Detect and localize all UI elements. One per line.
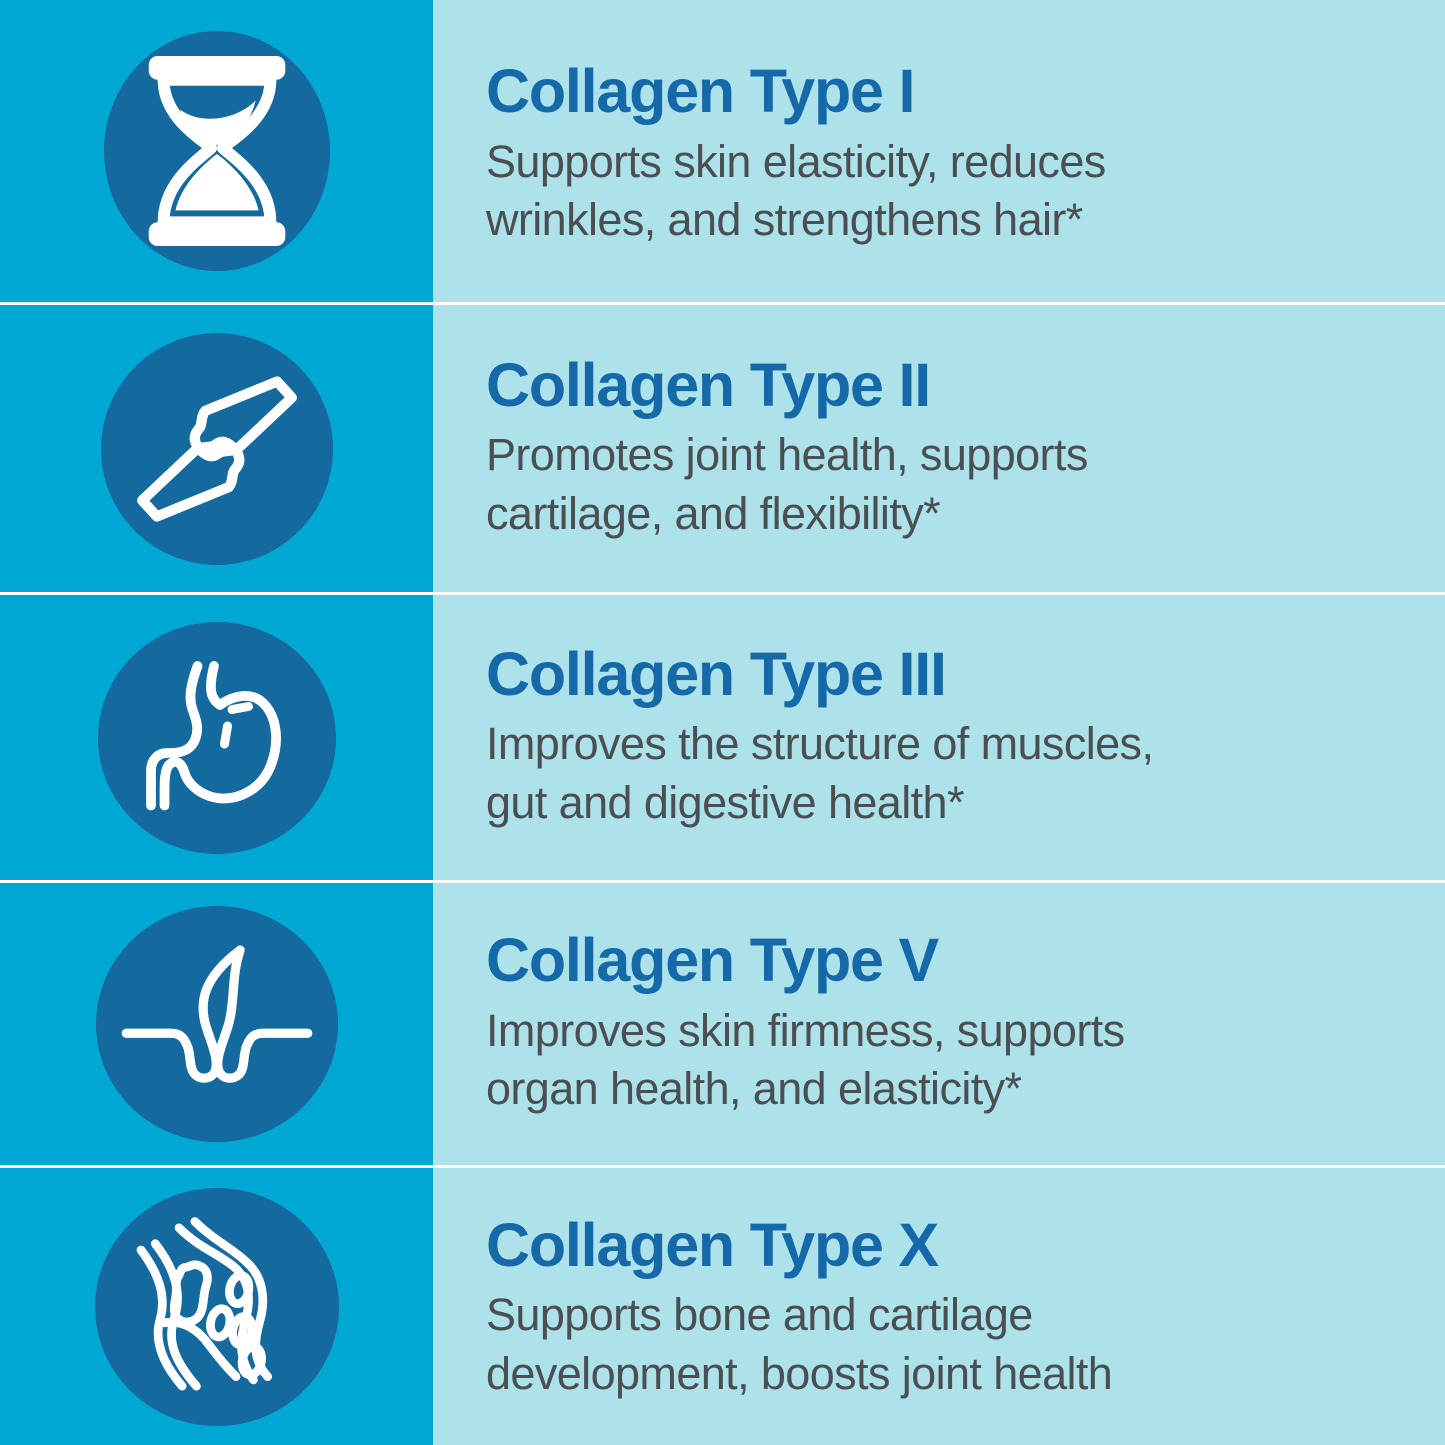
collagen-row: Collagen Type III Improves the structure…	[0, 595, 1445, 883]
text-cell: Collagen Type V Improves skin firmness, …	[433, 883, 1445, 1165]
row-description-line: development, boosts joint health	[486, 1345, 1415, 1404]
collagen-row: Collagen Type II Promotes joint health, …	[0, 305, 1445, 595]
stomach-icon	[127, 648, 307, 828]
icon-cell	[0, 595, 433, 880]
icon-disc	[98, 622, 336, 854]
collagen-types-infographic: Collagen Type I Supports skin elasticity…	[0, 0, 1445, 1445]
text-cell: Collagen Type II Promotes joint health, …	[433, 305, 1445, 592]
bone-joint-icon	[129, 361, 305, 537]
text-cell: Collagen Type III Improves the structure…	[433, 595, 1445, 880]
text-cell: Collagen Type I Supports skin elasticity…	[433, 0, 1445, 302]
cartilage-tissue-icon	[122, 1212, 312, 1402]
row-description-line: Improves skin firmness, supports	[486, 1002, 1415, 1061]
hair-follicle-icon	[117, 929, 317, 1119]
icon-cell	[0, 0, 433, 302]
icon-cell	[0, 305, 433, 592]
row-title: Collagen Type II	[486, 354, 1415, 416]
row-description: Supports bone and cartilage development,…	[486, 1286, 1415, 1403]
icon-disc	[104, 31, 330, 271]
row-description-line: Supports bone and cartilage	[486, 1286, 1415, 1345]
icon-disc	[96, 906, 338, 1142]
row-title: Collagen Type V	[486, 929, 1415, 991]
row-description-line: cartilage, and flexibility*	[486, 485, 1415, 544]
row-description: Supports skin elasticity, reduces wrinkl…	[486, 133, 1415, 250]
row-description: Promotes joint health, supports cartilag…	[486, 426, 1415, 543]
hourglass-icon	[142, 56, 292, 246]
row-description-line: Promotes joint health, supports	[486, 426, 1415, 485]
row-description-line: organ health, and elasticity*	[486, 1060, 1415, 1119]
text-cell: Collagen Type X Supports bone and cartil…	[433, 1168, 1445, 1445]
row-description-line: gut and digestive health*	[486, 774, 1415, 833]
icon-disc	[101, 333, 333, 565]
collagen-row: Collagen Type I Supports skin elasticity…	[0, 0, 1445, 305]
collagen-row: Collagen Type X Supports bone and cartil…	[0, 1168, 1445, 1445]
row-title: Collagen Type III	[486, 643, 1415, 705]
icon-disc	[95, 1188, 339, 1426]
icon-cell	[0, 1168, 433, 1445]
icon-cell	[0, 883, 433, 1165]
row-description: Improves the structure of muscles, gut a…	[486, 715, 1415, 832]
row-description-line: Improves the structure of muscles,	[486, 715, 1415, 774]
row-description-line: wrinkles, and strengthens hair*	[486, 191, 1415, 250]
row-description: Improves skin firmness, supports organ h…	[486, 1002, 1415, 1119]
row-title: Collagen Type X	[486, 1214, 1415, 1276]
row-title: Collagen Type I	[486, 60, 1415, 122]
row-description-line: Supports skin elasticity, reduces	[486, 133, 1415, 192]
collagen-row: Collagen Type V Improves skin firmness, …	[0, 883, 1445, 1168]
